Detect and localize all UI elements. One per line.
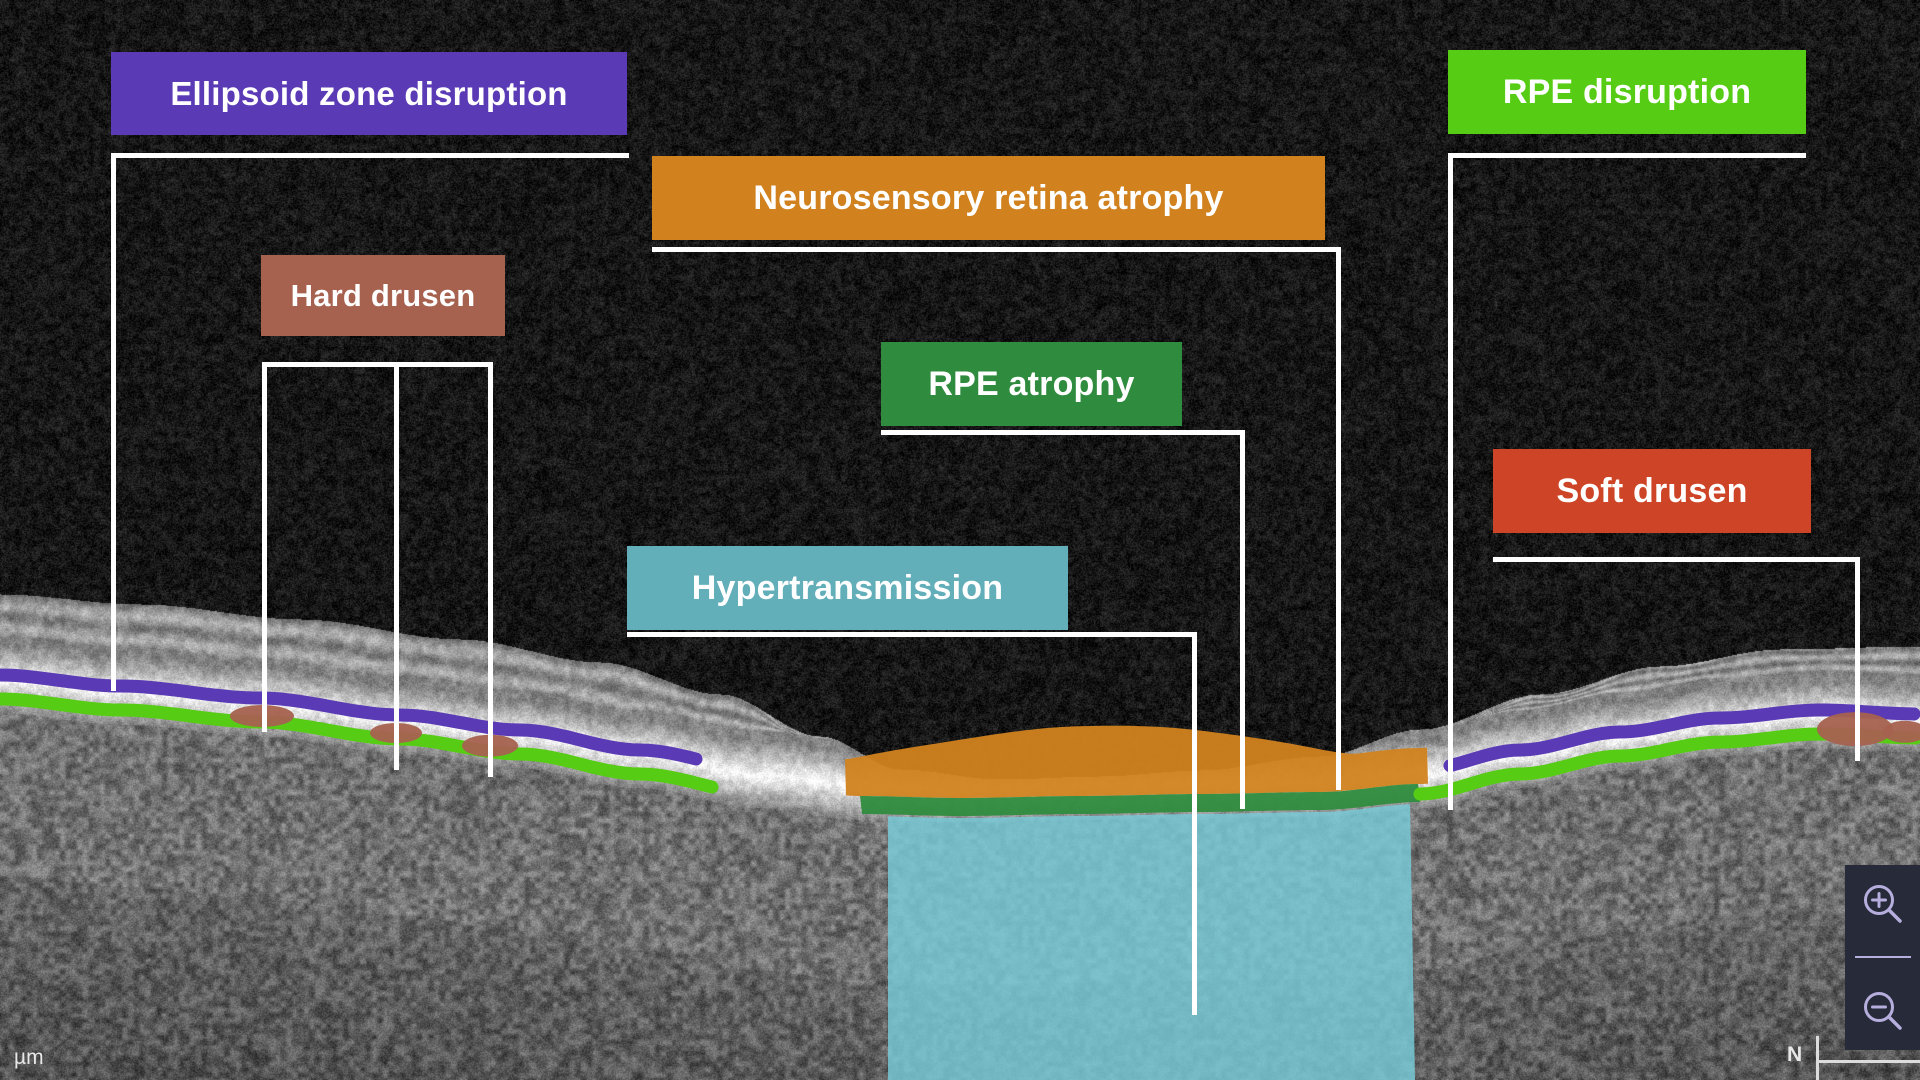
neurosensory-retina-atrophy-region: [845, 726, 1428, 798]
annotation-label-rpe-atrophy[interactable]: RPE atrophy: [881, 342, 1182, 426]
zoom-in-button[interactable]: [1857, 878, 1909, 930]
zoom-out-icon: [1860, 988, 1906, 1034]
annotation-label-hypertransmission[interactable]: Hypertransmission: [627, 546, 1068, 630]
hypertransmission-region: [888, 804, 1415, 1080]
oct-viewer: Ellipsoid zone disruption Hard drusen Ne…: [0, 0, 1920, 1080]
zoom-controls-panel: [1845, 865, 1920, 1050]
annotation-label-hard-drusen[interactable]: Hard drusen: [261, 255, 505, 336]
annotation-label-neurosensory-retina-atrophy[interactable]: Neurosensory retina atrophy: [652, 156, 1325, 240]
zoom-controls-divider: [1855, 956, 1911, 958]
drusen-blob: [462, 735, 518, 757]
annotation-label-rpe-disruption[interactable]: RPE disruption: [1448, 50, 1806, 134]
drusen-blob: [230, 705, 294, 727]
annotation-label-soft-drusen[interactable]: Soft drusen: [1493, 449, 1811, 533]
drusen-blob: [370, 723, 422, 743]
annotation-label-ellipsoid-zone-disruption[interactable]: Ellipsoid zone disruption: [111, 52, 627, 135]
zoom-in-icon: [1860, 881, 1906, 927]
zoom-out-button[interactable]: [1857, 985, 1909, 1037]
drusen-blob: [1817, 712, 1893, 746]
